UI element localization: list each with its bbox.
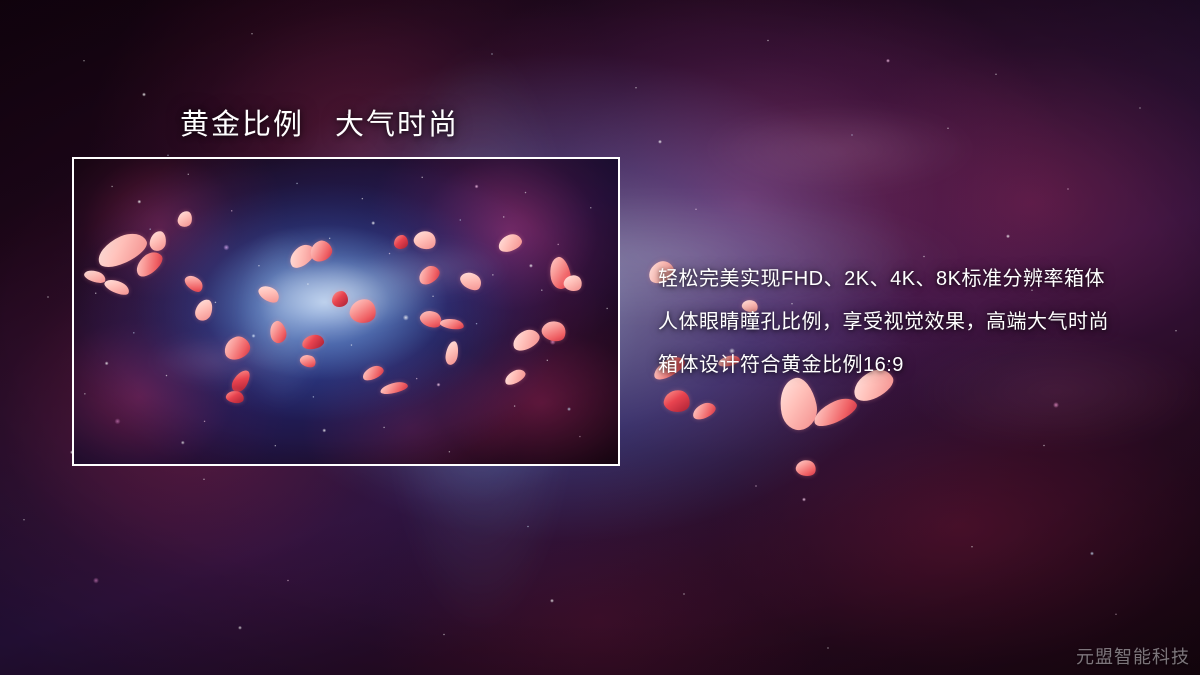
petal-shape (662, 388, 691, 414)
photo-vignette (74, 159, 618, 464)
framed-photo (72, 157, 620, 466)
presentation-slide: 黄金比例 大气时尚 轻松完美实现FHD、2K、4K、8K标准分辨率箱体 人体眼睛… (0, 0, 1200, 675)
description-line-3: 箱体设计符合黄金比例16:9 (658, 344, 1158, 387)
petal-shape (810, 394, 860, 431)
company-watermark: 元盟智能科技 (1076, 643, 1190, 669)
petal-shape (794, 458, 817, 478)
page-title: 黄金比例 大气时尚 (180, 101, 459, 143)
description-line-1: 轻松完美实现FHD、2K、4K、8K标准分辨率箱体 (658, 258, 1158, 301)
photo-content (74, 159, 618, 464)
description-line-2: 人体眼睛瞳孔比例，享受视觉效果，高端大气时尚 (658, 301, 1158, 344)
description-text-block: 轻松完美实现FHD、2K、4K、8K标准分辨率箱体 人体眼睛瞳孔比例，享受视觉效… (658, 258, 1158, 387)
petal-shape (690, 400, 717, 422)
